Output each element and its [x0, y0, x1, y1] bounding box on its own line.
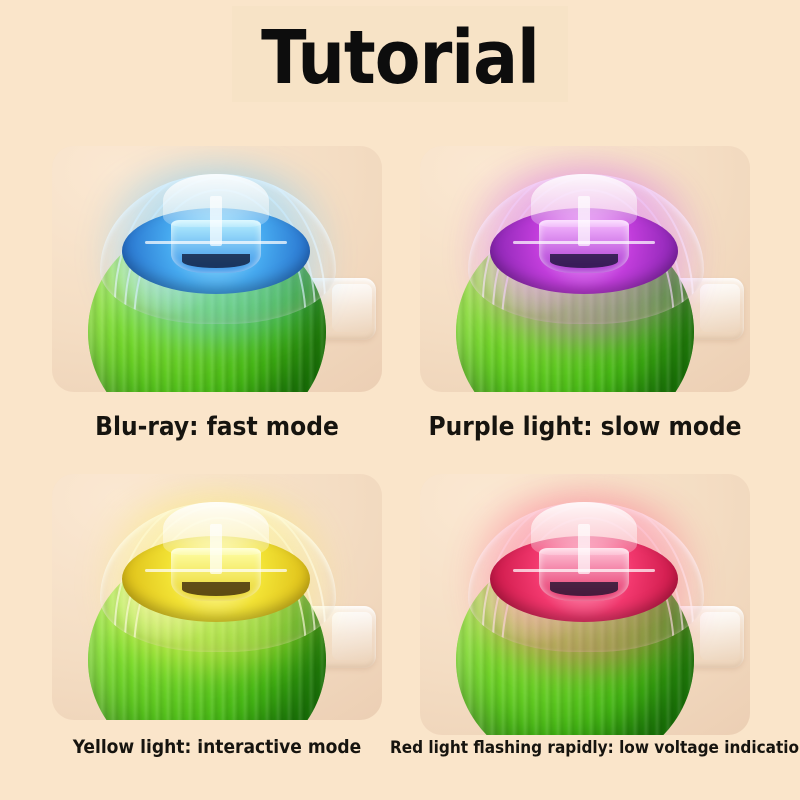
ball-toy-image-purple	[420, 146, 750, 392]
product-photo-panel-red	[420, 474, 750, 735]
product-photo-panel-purple	[420, 146, 750, 392]
led-top-lens	[531, 174, 636, 227]
product-photo-panel-yellow	[52, 474, 382, 720]
product-photo-panel-blu-ray	[52, 146, 382, 392]
led-cap-purple	[490, 208, 678, 294]
caption-red: Red light flashing rapidly: low voltage …	[390, 738, 786, 758]
led-top-lens	[163, 174, 268, 227]
led-top-lens	[163, 502, 268, 555]
caption-yellow: Yellow light: interactive mode	[52, 736, 382, 758]
title-band: Tutorial	[0, 0, 800, 118]
tutorial-page: Tutorial	[0, 0, 800, 800]
led-cap-yellow	[122, 536, 310, 622]
led-cap-red	[490, 536, 678, 622]
ball-toy-image-red	[420, 474, 750, 735]
led-cap-blue	[122, 208, 310, 294]
page-title: Tutorial	[0, 18, 800, 98]
caption-purple: Purple light: slow mode	[420, 412, 750, 442]
ball-toy-image-yellow	[52, 474, 382, 720]
ball-toy-image-blue	[52, 146, 382, 392]
caption-blu-ray: Blu-ray: fast mode	[52, 412, 382, 442]
led-top-lens	[531, 502, 636, 555]
